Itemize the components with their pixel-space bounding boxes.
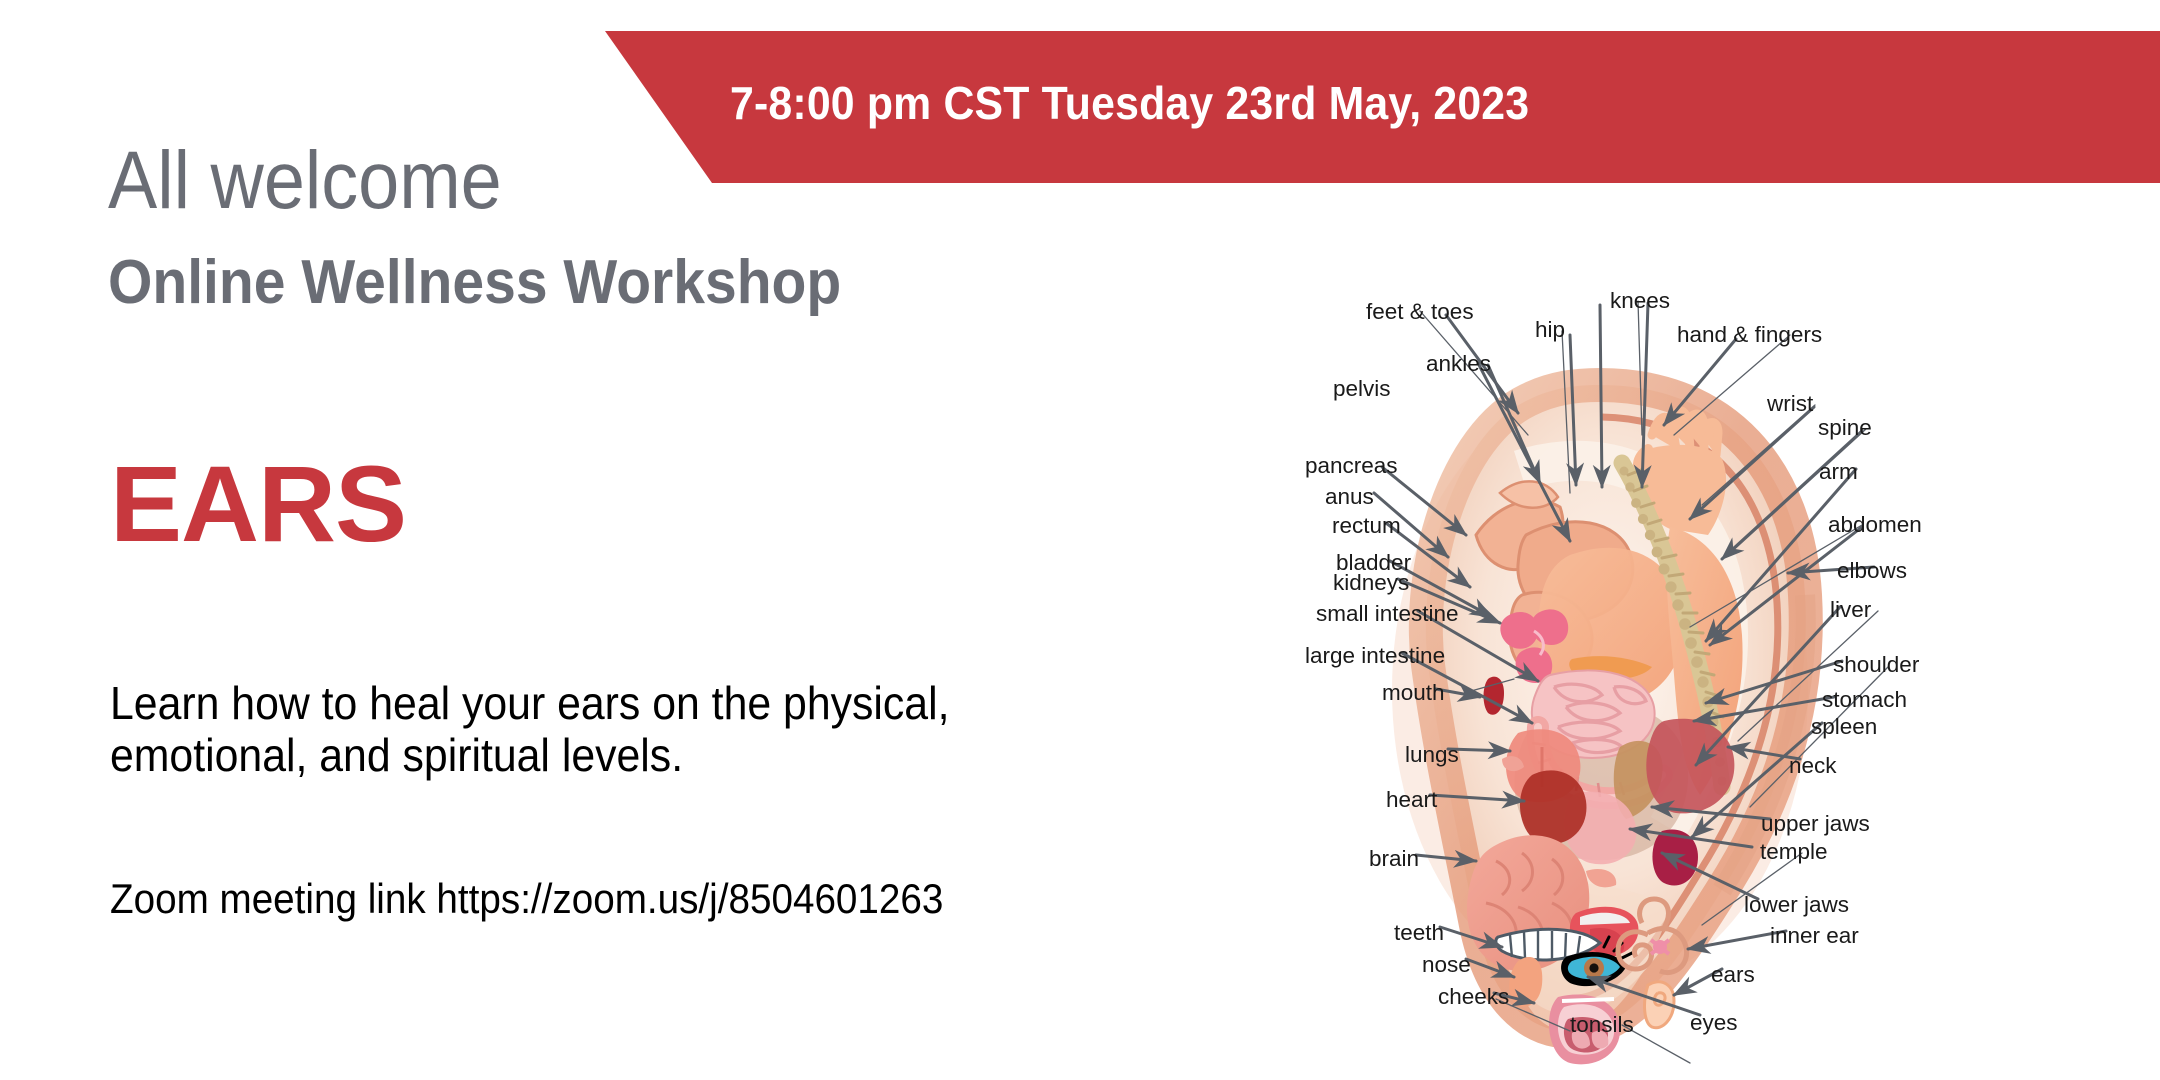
label-brain: brain (1369, 848, 1419, 871)
label-large-intestine: large intestine (1305, 645, 1445, 668)
label-ankles: ankles (1426, 353, 1491, 376)
description-text: Learn how to heal your ears on the physi… (110, 678, 1049, 782)
label-cheeks: cheeks (1438, 986, 1509, 1009)
label-pancreas: pancreas (1305, 455, 1398, 478)
label-spine: spine (1818, 417, 1872, 440)
label-teeth: teeth (1394, 922, 1444, 945)
label-eyes: eyes (1690, 1012, 1738, 1035)
label-rectum: rectum (1332, 515, 1401, 538)
heart (1520, 770, 1587, 844)
ear-reflexology-diagram: feet & toes hip knees ankles pelvis panc… (1270, 235, 2160, 1070)
label-nose: nose (1422, 954, 1471, 977)
label-mouth: mouth (1382, 682, 1445, 705)
label-elbows: elbows (1837, 560, 1907, 583)
label-inner-ear: inner ear (1770, 925, 1859, 948)
label-feet-toes: feet & toes (1366, 301, 1474, 324)
label-abdomen: abdomen (1828, 514, 1922, 537)
label-shoulder: shoulder (1833, 654, 1919, 677)
label-tonsils: tonsils (1570, 1014, 1634, 1037)
label-pelvis: pelvis (1333, 378, 1391, 401)
topic-title: EARS (110, 450, 406, 558)
label-hand-fingers: hand & fingers (1677, 324, 1822, 347)
label-spleen: spleen (1811, 716, 1877, 739)
label-anus: anus (1325, 486, 1374, 509)
label-kidneys: kidneys (1333, 572, 1409, 595)
label-temple: temple (1760, 841, 1828, 864)
zoom-meeting-link[interactable]: Zoom meeting link https://zoom.us/j/8504… (110, 878, 943, 920)
label-lungs: lungs (1405, 744, 1459, 767)
page-title: Online Wellness Workshop (108, 252, 841, 314)
event-datetime: 7-8:00 pm CST Tuesday 23rd May, 2023 (730, 76, 1529, 130)
label-heart: heart (1386, 789, 1437, 812)
label-lower-jaws: lower jaws (1744, 894, 1849, 917)
kicker-all-welcome: All welcome (108, 140, 502, 222)
label-knees: knees (1610, 290, 1670, 313)
label-ears: ears (1711, 964, 1755, 987)
label-small-intestine: small intestine (1316, 603, 1459, 626)
label-arm: arm (1819, 461, 1858, 484)
label-wrist: wrist (1767, 393, 1813, 416)
label-liver: liver (1830, 599, 1871, 622)
label-stomach: stomach (1822, 689, 1907, 712)
label-upper-jaws: upper jaws (1761, 813, 1870, 836)
label-hip: hip (1535, 319, 1565, 342)
poster-canvas: 7-8:00 pm CST Tuesday 23rd May, 2023 All… (0, 0, 2160, 1080)
label-neck: neck (1789, 755, 1837, 778)
